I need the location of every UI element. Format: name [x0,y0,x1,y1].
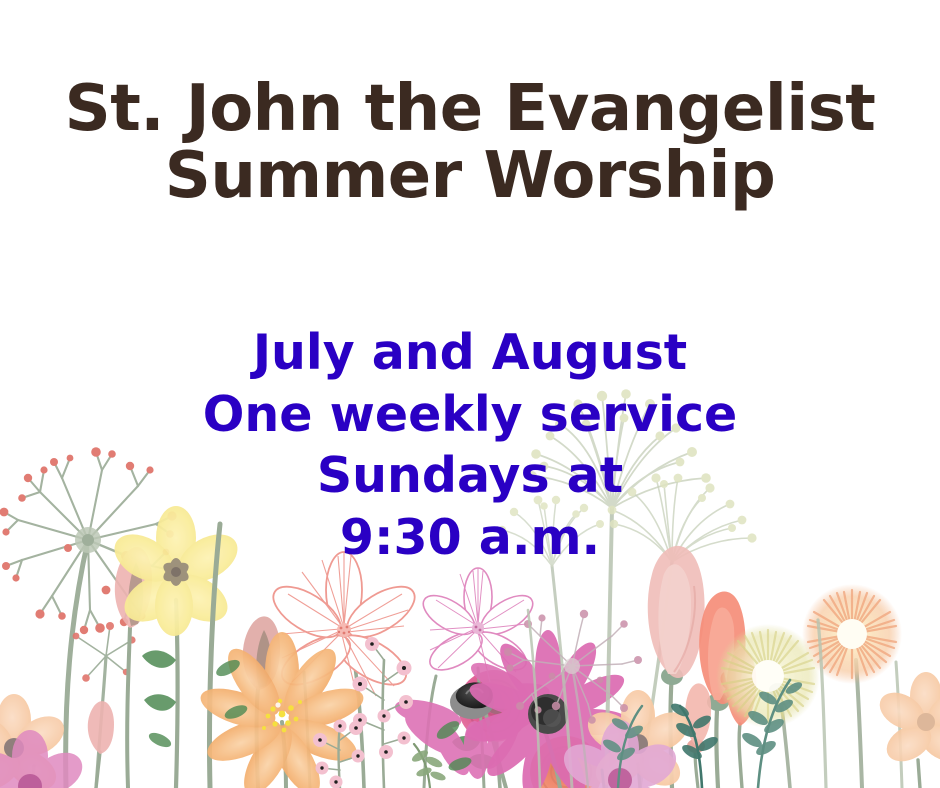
flyer-canvas: St. John the Evangelist Summer Worship J… [0,0,940,788]
peach-flower-edge-right [873,672,940,788]
dandelion-puff-cream [716,624,820,788]
blush-bud-left-3 [88,701,114,788]
floral-border-decoration [0,0,940,788]
